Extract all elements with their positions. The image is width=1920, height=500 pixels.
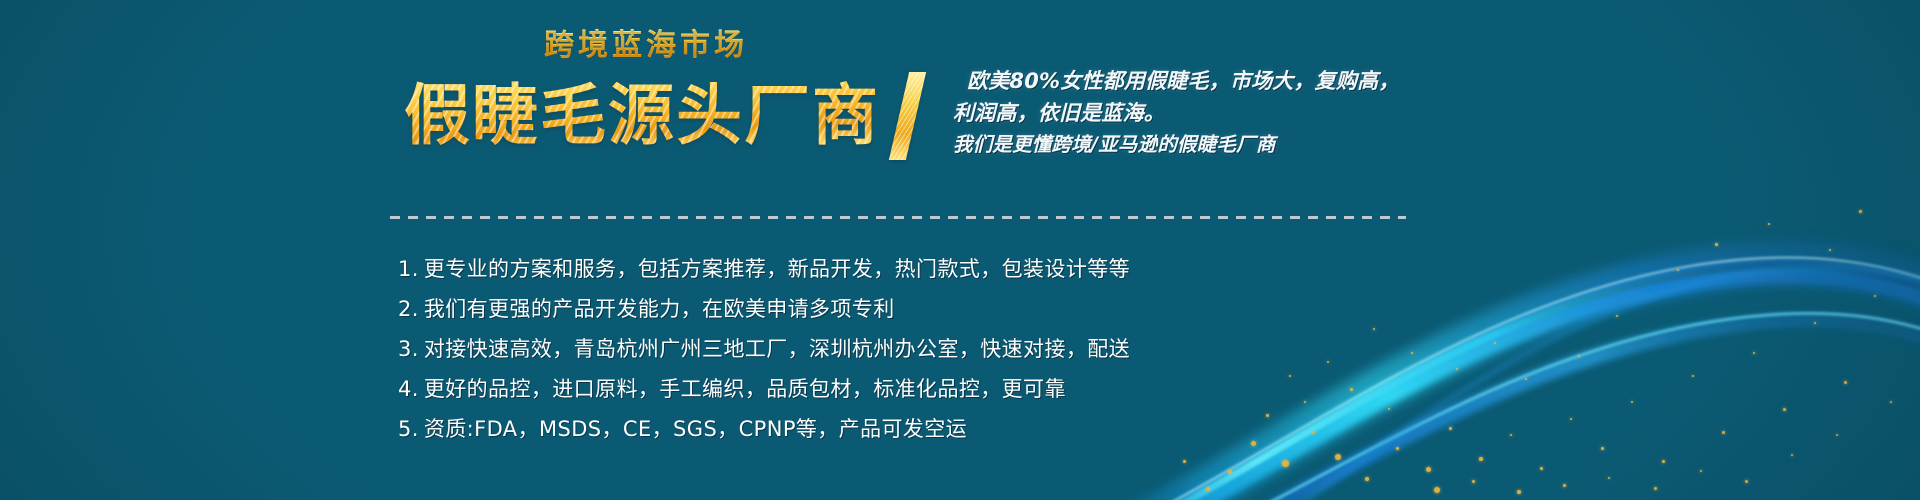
list-item-text: 我们有更强的产品开发能力，在欧美申请多项专利 (424, 289, 895, 329)
list-item-number: 1. (398, 249, 419, 289)
list-item-number: 2. (398, 289, 419, 329)
list-item: 4. 更好的品控，进口原料，手工编织，品质包材，标准化品控，更可靠 (398, 369, 1458, 409)
list-item-number: 3. (398, 329, 419, 369)
kicker-text: 跨境蓝海市场 (392, 26, 900, 66)
lead-line-2: 利润高，依旧是蓝海。 (953, 98, 1423, 130)
dashed-divider (390, 216, 1406, 219)
list-item-text: 对接快速高效，青岛杭州广州三地工厂，深圳杭州办公室，快速对接，配送 (424, 329, 1130, 369)
list-item: 1. 更专业的方案和服务，包括方案推荐，新品开发，热门款式，包装设计等等 (398, 249, 1458, 289)
list-item: 3. 对接快速高效，青岛杭州广州三地工厂，深圳杭州办公室，快速对接，配送 (398, 329, 1458, 369)
selling-points-list: 1. 更专业的方案和服务，包括方案推荐，新品开发，热门款式，包装设计等等 2. … (398, 249, 1458, 449)
lead-line-1: 欧美80%女性都用假睫毛，市场大，复购高， (953, 66, 1423, 98)
promo-banner: 跨境蓝海市场 假睫毛源头厂商 欧美80%女性都用假睫毛，市场大，复购高， 利润高… (0, 0, 1920, 500)
list-item: 2. 我们有更强的产品开发能力，在欧美申请多项专利 (398, 289, 1458, 329)
list-item-text: 更专业的方案和服务，包括方案推荐，新品开发，热门款式，包装设计等等 (424, 249, 1130, 289)
list-item: 5. 资质:FDA，MSDS，CE，SGS，CPNP等，产品可发空运 (398, 409, 1458, 449)
list-item-number: 4. (398, 369, 419, 409)
list-item-text: 资质:FDA，MSDS，CE，SGS，CPNP等，产品可发空运 (424, 409, 967, 449)
lead-line-3: 我们是更懂跨境/亚马逊的假睫毛厂商 (953, 129, 1423, 161)
list-item-number: 5. (398, 409, 419, 449)
lead-paragraph: 欧美80%女性都用假睫毛，市场大，复购高， 利润高，依旧是蓝海。 我们是更懂跨境… (953, 66, 1423, 161)
list-item-text: 更好的品控，进口原料，手工编织，品质包材，标准化品控，更可靠 (424, 369, 1066, 409)
main-headline: 假睫毛源头厂商 (382, 78, 902, 154)
